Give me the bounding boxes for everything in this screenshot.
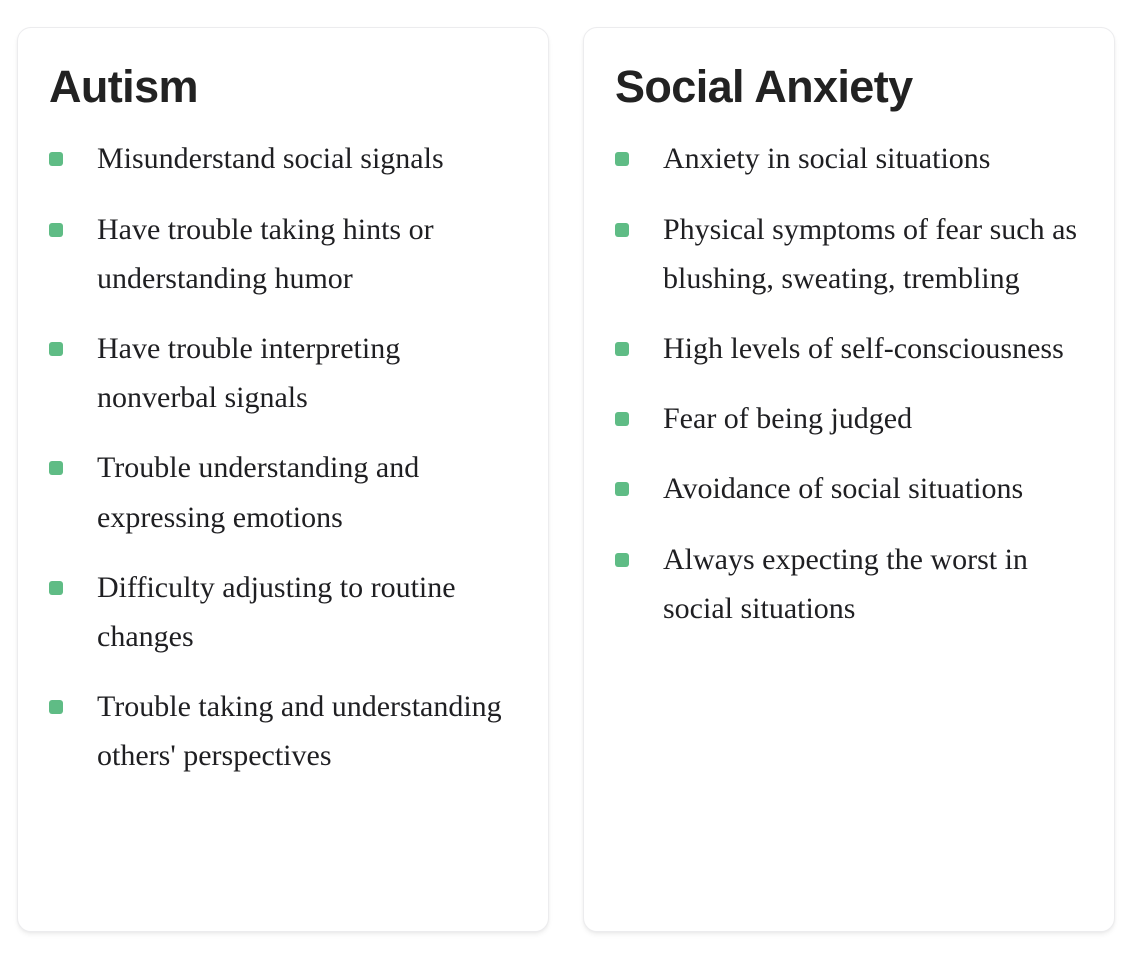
square-bullet-icon xyxy=(615,223,629,237)
list-item: Avoidance of social situations xyxy=(615,464,1088,513)
square-bullet-icon xyxy=(49,700,63,714)
feature-list-autism: Misunderstand social signals Have troubl… xyxy=(49,134,522,780)
list-item: Misunderstand social signals xyxy=(49,134,522,183)
list-item-label: Trouble taking and understanding others'… xyxy=(97,682,522,780)
list-item: Have trouble interpreting nonverbal sign… xyxy=(49,324,522,422)
list-item-label: Trouble understanding and expressing emo… xyxy=(97,443,522,541)
square-bullet-icon xyxy=(49,152,63,166)
card-social-anxiety: Social Anxiety Anxiety in social situati… xyxy=(583,27,1115,932)
list-item-label: Physical symptoms of fear such as blushi… xyxy=(663,205,1088,303)
list-item: Physical symptoms of fear such as blushi… xyxy=(615,205,1088,303)
page-title-social-anxiety: Social Anxiety xyxy=(615,62,1088,112)
comparison-board: Autism Misunderstand social signals Have… xyxy=(0,0,1134,956)
list-item-label: High levels of self-consciousness xyxy=(663,324,1088,373)
square-bullet-icon xyxy=(615,482,629,496)
list-item-label: Misunderstand social signals xyxy=(97,134,522,183)
list-item: Difficulty adjusting to routine changes xyxy=(49,563,522,661)
square-bullet-icon xyxy=(615,412,629,426)
list-item-label: Have trouble interpreting nonverbal sign… xyxy=(97,324,522,422)
list-item-label: Always expecting the worst in social sit… xyxy=(663,535,1088,633)
list-item: Trouble understanding and expressing emo… xyxy=(49,443,522,541)
list-item-label: Difficulty adjusting to routine changes xyxy=(97,563,522,661)
square-bullet-icon xyxy=(49,342,63,356)
list-item-label: Avoidance of social situations xyxy=(663,464,1088,513)
square-bullet-icon xyxy=(49,223,63,237)
list-item: Have trouble taking hints or understandi… xyxy=(49,205,522,303)
page-title-autism: Autism xyxy=(49,62,522,112)
square-bullet-icon xyxy=(49,461,63,475)
square-bullet-icon xyxy=(615,553,629,567)
list-item: Fear of being judged xyxy=(615,394,1088,443)
list-item-label: Anxiety in social situations xyxy=(663,134,1088,183)
card-autism: Autism Misunderstand social signals Have… xyxy=(17,27,549,932)
list-item: Anxiety in social situations xyxy=(615,134,1088,183)
square-bullet-icon xyxy=(615,152,629,166)
list-item-label: Have trouble taking hints or understandi… xyxy=(97,205,522,303)
list-item: Always expecting the worst in social sit… xyxy=(615,535,1088,633)
list-item: Trouble taking and understanding others'… xyxy=(49,682,522,780)
square-bullet-icon xyxy=(49,581,63,595)
list-item-label: Fear of being judged xyxy=(663,394,1088,443)
feature-list-social-anxiety: Anxiety in social situations Physical sy… xyxy=(615,134,1088,633)
list-item: High levels of self-consciousness xyxy=(615,324,1088,373)
square-bullet-icon xyxy=(615,342,629,356)
